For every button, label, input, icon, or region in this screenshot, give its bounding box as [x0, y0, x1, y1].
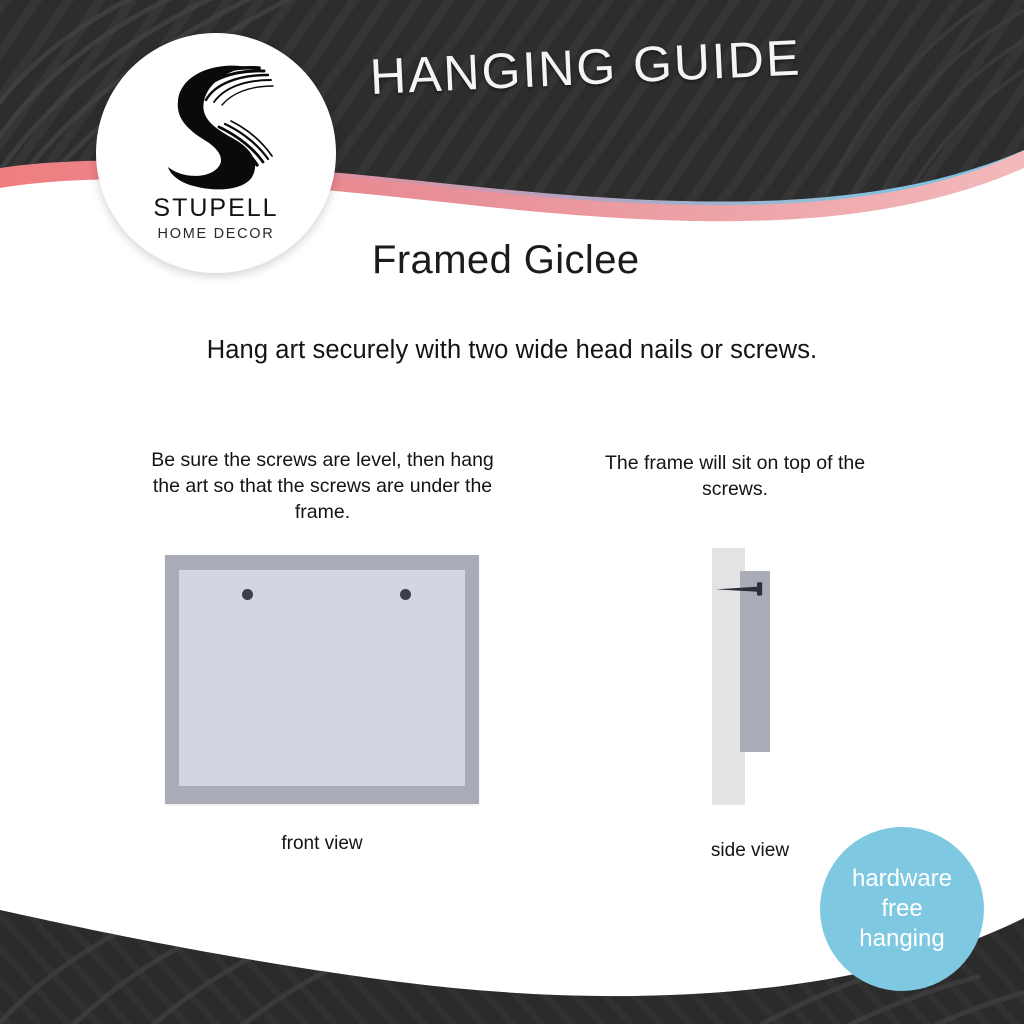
screw-head-dot-right — [400, 589, 411, 600]
frame-side-strip — [740, 571, 770, 752]
side-view-caption: The frame will sit on top of the screws. — [590, 450, 880, 502]
side-view-label: side view — [660, 840, 840, 862]
front-view-caption: Be sure the screws are level, then hang … — [150, 447, 495, 525]
side-view-diagram — [705, 545, 795, 810]
frame-inner-mat — [179, 570, 465, 786]
front-view-diagram — [165, 555, 479, 804]
brand-tagline: HOME DECOR — [158, 226, 275, 242]
stupell-swoosh-icon — [156, 57, 276, 192]
hanging-guide-page: STUPELL HOME DECOR HANGING GUIDE Framed … — [0, 0, 1024, 1024]
brand-logo-badge: STUPELL HOME DECOR — [96, 33, 336, 273]
main-instruction-text: Hang art securely with two wide head nai… — [0, 336, 1024, 365]
screw-head-dot-left — [242, 589, 253, 600]
badge-line-3: hanging — [859, 924, 944, 954]
page-title: HANGING GUIDE — [369, 28, 803, 106]
front-view-label: front view — [165, 833, 479, 855]
badge-line-2: free — [881, 894, 922, 924]
hardware-free-hanging-badge: hardware free hanging — [820, 827, 984, 991]
product-type-title: Framed Giclee — [372, 238, 640, 283]
brand-name: STUPELL — [153, 194, 278, 223]
badge-line-1: hardware — [852, 864, 952, 894]
screw-icon — [714, 580, 772, 598]
